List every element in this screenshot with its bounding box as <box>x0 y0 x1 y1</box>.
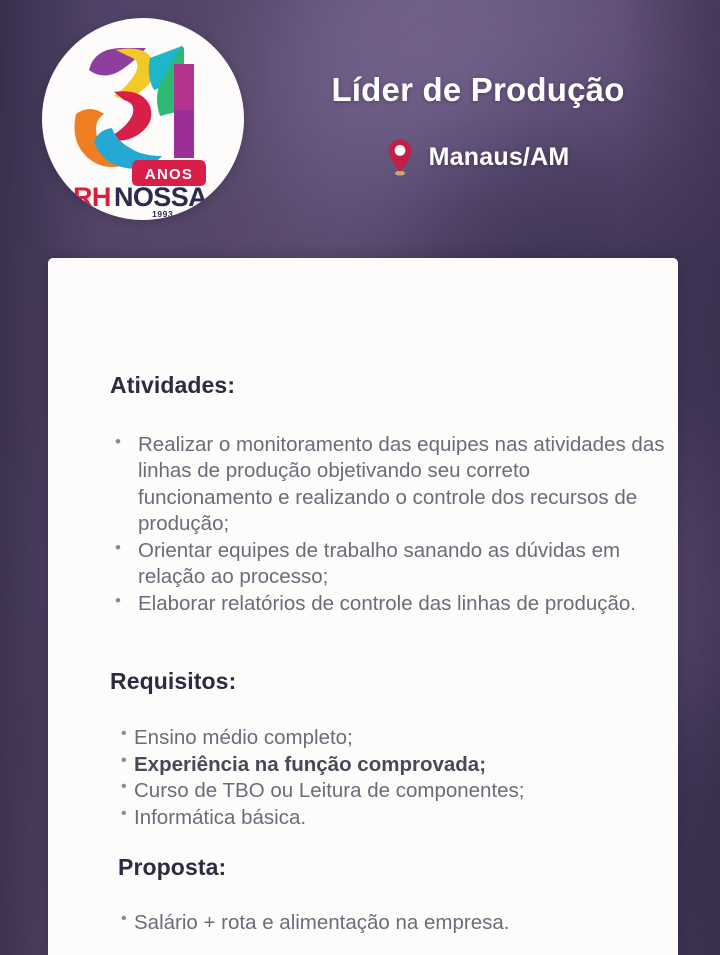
company-logo-badge: ANOS RH NOSSA 1993 - 2024 <box>42 18 244 220</box>
svg-text:RH: RH <box>73 182 111 212</box>
list-item: Elaborar relatórios de controle das linh… <box>110 591 670 617</box>
location-label: Manaus/AM <box>429 143 570 172</box>
list-item: Experiência na função comprovada; <box>120 752 665 779</box>
list-item: Informática básica. <box>120 805 665 832</box>
list-item: Salário + rota e alimentação na empresa. <box>120 910 665 937</box>
requisitos-list: Ensino médio completo; Experiência na fu… <box>120 725 665 832</box>
rh-nossa-logo-icon: ANOS RH NOSSA 1993 - 2024 <box>42 18 244 220</box>
list-item: Ensino médio completo; <box>120 725 665 752</box>
svg-text:NOSSA: NOSSA <box>114 182 207 212</box>
job-details-card: Atividades: Realizar o monitoramento das… <box>48 258 678 955</box>
location-row: Manaus/AM <box>258 138 698 176</box>
atividades-heading: Atividades: <box>110 372 235 399</box>
proposta-list: Salário + rota e alimentação na empresa. <box>120 910 665 937</box>
list-item: Orientar equipes de trabalho sanando as … <box>110 538 670 591</box>
list-item: Curso de TBO ou Leitura de componentes; <box>120 778 665 805</box>
page-title: Líder de Produção <box>258 72 698 108</box>
proposta-heading: Proposta: <box>118 854 226 881</box>
atividades-list: Realizar o monitoramento das equipes nas… <box>110 432 670 617</box>
list-item: Realizar o monitoramento das equipes nas… <box>110 432 670 538</box>
poster-header: ANOS RH NOSSA 1993 - 2024 Líder de Produ… <box>0 0 720 258</box>
svg-text:ANOS: ANOS <box>145 166 193 183</box>
map-pin-icon <box>387 138 413 176</box>
job-posting-poster: ANOS RH NOSSA 1993 - 2024 Líder de Produ… <box>0 0 720 955</box>
svg-text:1993 - 2024: 1993 - 2024 <box>152 209 204 219</box>
requisitos-heading: Requisitos: <box>110 668 236 695</box>
